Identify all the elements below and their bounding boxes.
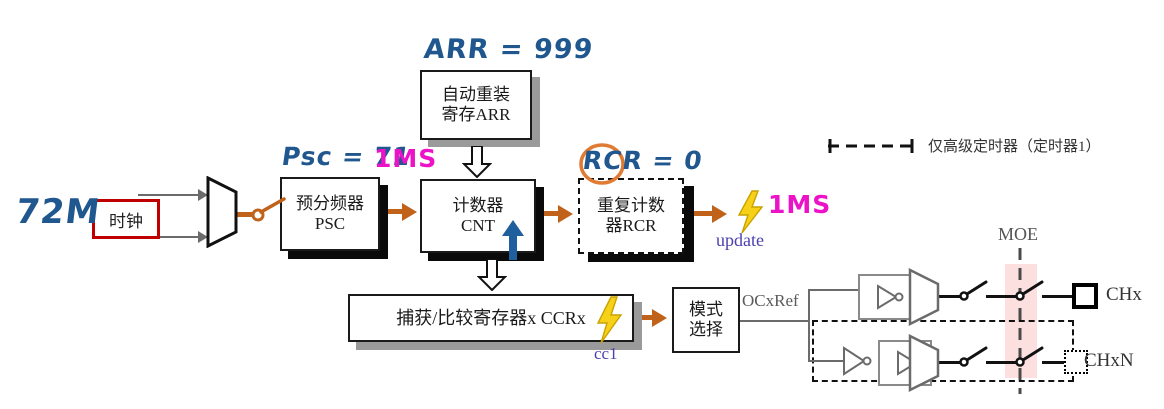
lower-output-enable-switch xyxy=(958,344,992,379)
arrow-arr-to-cnt xyxy=(462,146,492,183)
wire-clock-lower xyxy=(160,236,200,238)
arrowhead-rcr-to-update xyxy=(712,205,727,223)
block-clock: 时钟 xyxy=(92,199,160,239)
legend-text: 仅高级定时器（定时器1） xyxy=(928,135,1101,156)
annotation-input-frequency: 72M xyxy=(14,192,103,232)
block-autoreload-line2: 寄存ARR xyxy=(442,105,511,125)
block-prescaler-line2: PSC xyxy=(315,214,345,234)
annotation-rcr: RCR = 0 xyxy=(581,146,705,175)
block-counter-line2: CNT xyxy=(461,216,495,236)
label-chxn: CHxN xyxy=(1084,350,1134,372)
block-mode-select-line1: 模式 xyxy=(689,300,723,320)
label-ocxref: OCxRef xyxy=(742,291,799,311)
pad-chx xyxy=(1072,283,1098,309)
lower-output-mux xyxy=(908,334,942,397)
moe-upper-switch xyxy=(1014,278,1048,313)
arrowhead-cnt-to-rcr xyxy=(558,205,573,223)
block-prescaler: 预分频器 PSC xyxy=(280,177,380,251)
block-prescaler-line1: 预分频器 xyxy=(296,194,364,214)
update-event-bolt-icon xyxy=(736,190,766,239)
legend-dashed-swatch xyxy=(828,136,914,161)
lower-invert-gate xyxy=(842,345,876,382)
block-clock-label: 时钟 xyxy=(109,207,143,232)
upper-output-mux xyxy=(908,268,942,331)
wire-clock-upper xyxy=(138,194,200,196)
block-repetition-line2: 器RCR xyxy=(605,216,656,236)
block-repetition-line1: 重复计数 xyxy=(597,196,665,216)
annotation-update-time: 1MS xyxy=(768,190,831,219)
annotation-arr: ARR = 999 xyxy=(422,34,595,65)
diagram-canvas: 72M 时钟 预分频器 PSC Psc = 71 1MS 自动重装 寄存ARR … xyxy=(0,0,1164,409)
block-counter-line1: 计数器 xyxy=(453,196,504,216)
wire-ocxref-split xyxy=(808,289,810,361)
block-mode-select: 模式 选择 xyxy=(672,287,740,353)
wire-ocxref xyxy=(740,320,810,322)
moe-lower-switch xyxy=(1014,344,1048,379)
upper-output-enable-switch xyxy=(958,278,992,313)
arrowhead-ccr-to-mode xyxy=(652,309,667,327)
block-mode-select-line2: 选择 xyxy=(689,320,723,340)
clock-enable-switch xyxy=(248,194,294,235)
arrowhead-psc-to-cnt xyxy=(402,203,417,221)
wire-lower-branch xyxy=(808,360,846,362)
annotation-count-up-arrow xyxy=(500,218,526,267)
label-chx: CHx xyxy=(1106,284,1142,306)
block-autoreload-register: 自动重装 寄存ARR xyxy=(420,70,532,140)
clock-source-mux xyxy=(206,176,242,253)
cc1-event-bolt-icon xyxy=(595,296,625,349)
block-autoreload-line1: 自动重装 xyxy=(442,85,510,105)
block-capture-compare-register: 捕获/比较寄存器x CCRx xyxy=(348,294,634,342)
label-moe: MOE xyxy=(998,224,1038,245)
block-capture-compare-label: 捕获/比较寄存器x CCRx xyxy=(396,308,586,329)
annotation-psc-time: 1MS xyxy=(374,144,437,173)
wire-upper-branch xyxy=(808,289,860,291)
